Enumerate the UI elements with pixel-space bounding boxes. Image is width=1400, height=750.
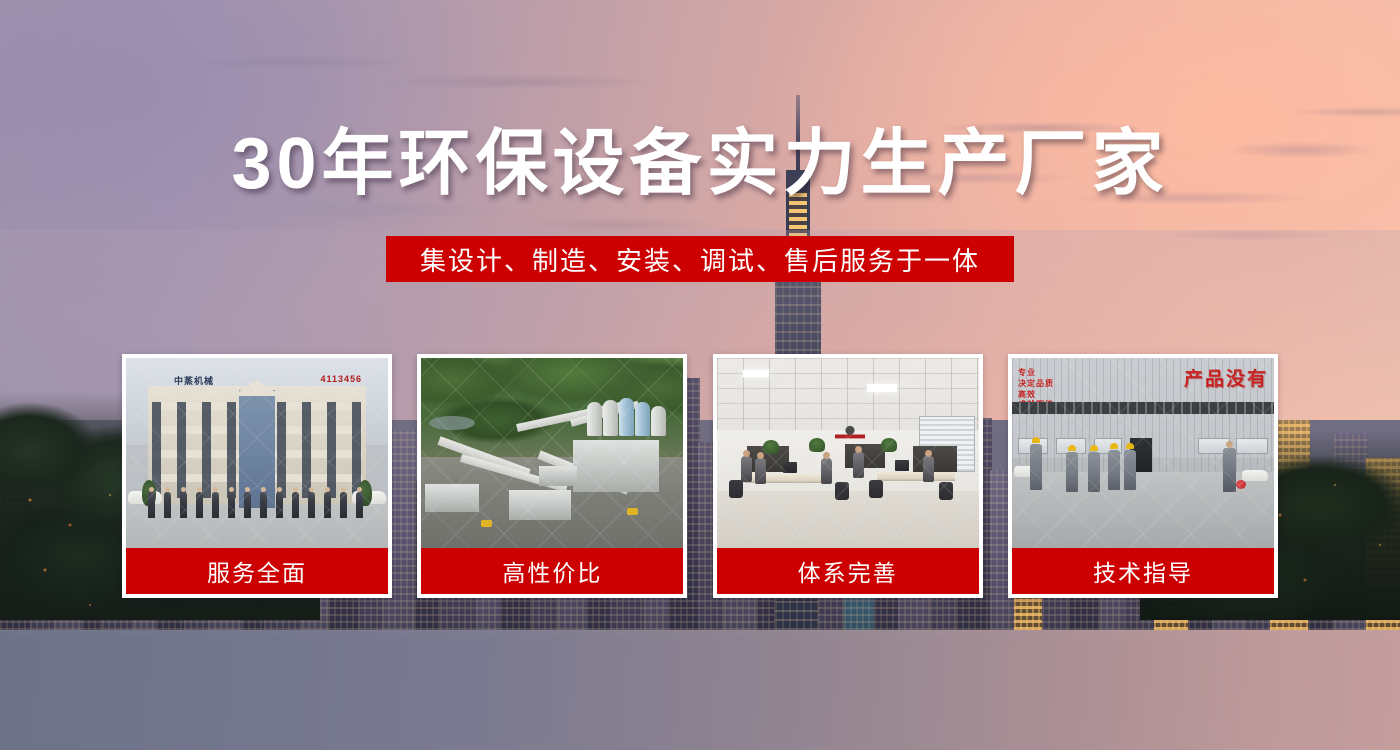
- page-title: 30年环保设备实力生产厂家: [0, 128, 1400, 200]
- feature-card-label: 体系完善: [717, 548, 979, 594]
- feature-card-label: 高性价比: [421, 548, 683, 594]
- aerial-factory-plant-photo: [421, 358, 683, 548]
- office-interior-photo: [717, 358, 979, 548]
- hero-banner: 30年环保设备实力生产厂家 集设计、制造、安装、调试、售后服务于一体 中蒸机械 …: [0, 0, 1400, 750]
- photo-signage-text: 产品没有: [1184, 364, 1268, 391]
- feature-card-label: 服务全面: [126, 548, 388, 594]
- feature-card[interactable]: 体系完善: [713, 354, 983, 598]
- photo-signage-text: 中蒸机械: [174, 374, 214, 387]
- feature-card-list: 中蒸机械 4113456 服务全面: [122, 354, 1278, 598]
- company-headquarters-photo: 中蒸机械 4113456: [126, 358, 388, 548]
- workers-training-photo: 产品没有 专业决定品质高效成就辉煌: [1012, 358, 1274, 548]
- feature-card[interactable]: 高性价比: [417, 354, 687, 598]
- feature-card[interactable]: 中蒸机械 4113456 服务全面: [122, 354, 392, 598]
- feature-card-label: 技术指导: [1012, 548, 1274, 594]
- subtitle-banner: 集设计、制造、安装、调试、售后服务于一体: [386, 236, 1014, 282]
- subtitle-text: 集设计、制造、安装、调试、售后服务于一体: [420, 241, 980, 278]
- photo-phone-number: 4113456: [320, 374, 362, 384]
- feature-card[interactable]: 产品没有 专业决定品质高效成就辉煌: [1008, 354, 1278, 598]
